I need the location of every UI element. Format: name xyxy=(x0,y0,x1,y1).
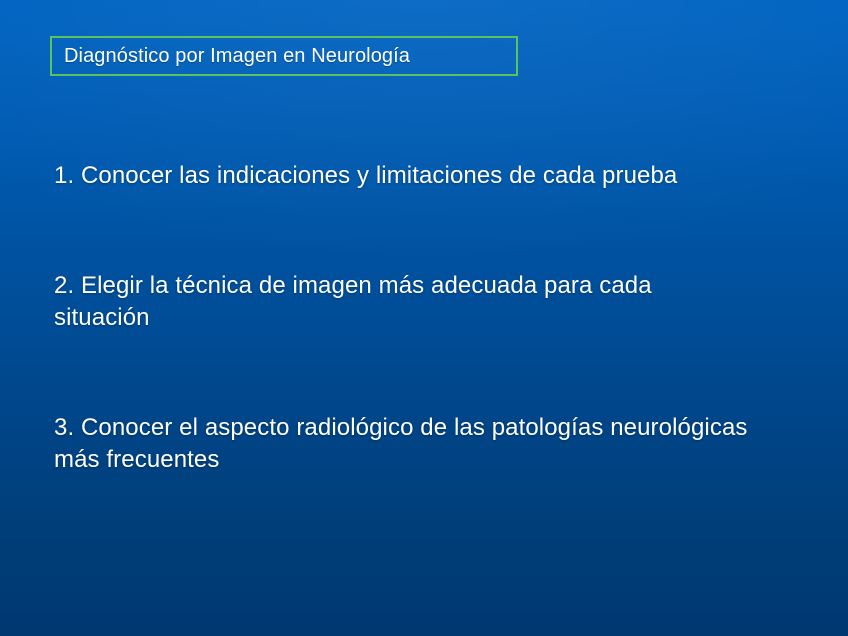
objectives-list: 1. Conocer las indicaciones y limitacion… xyxy=(54,160,754,476)
objective-item-1: 1. Conocer las indicaciones y limitacion… xyxy=(54,160,754,192)
objective-item-3: 3. Conocer el aspecto radiológico de las… xyxy=(54,412,754,476)
objective-item-2: 2. Elegir la técnica de imagen más adecu… xyxy=(54,270,754,334)
slide-title: Diagnóstico por Imagen en Neurología xyxy=(52,44,410,68)
presentation-slide: Diagnóstico por Imagen en Neurología 1. … xyxy=(0,0,848,636)
slide-title-box: Diagnóstico por Imagen en Neurología xyxy=(50,36,518,76)
